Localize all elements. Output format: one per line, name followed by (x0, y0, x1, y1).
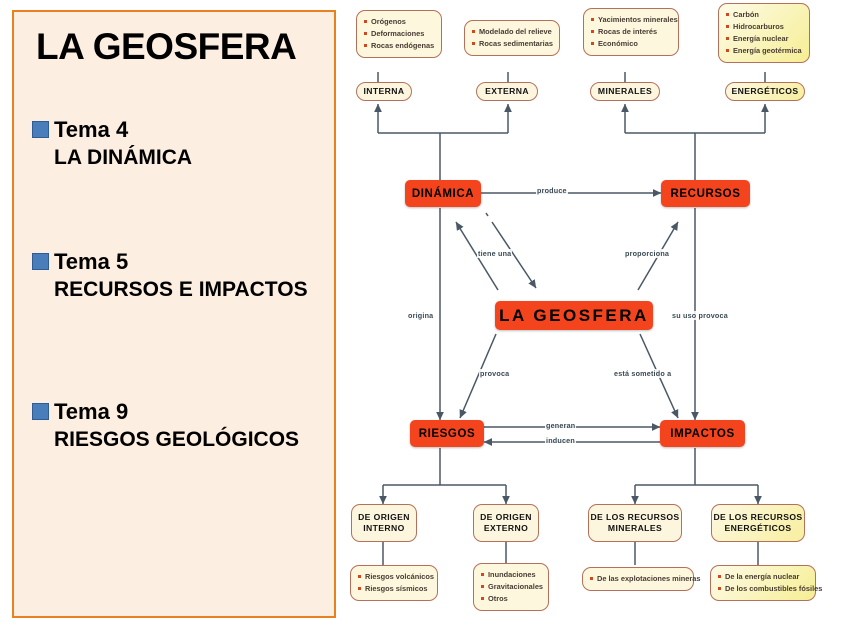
list-item: Rocas sedimentarias (471, 38, 552, 50)
detail-list: Orógenos Deformaciones Rocas endógenas (363, 16, 434, 52)
detail-list: De las explotaciones mineras (589, 573, 686, 585)
node-de-los-recursos-minerales[interactable]: DE LOS RECURSOS MINERALES (588, 504, 682, 542)
node-line-2: ENERGÉTICOS (725, 523, 792, 534)
list-item: Orógenos (363, 16, 434, 28)
detail-list: De la energía nuclear De los combustible… (717, 571, 808, 595)
node-line-1: DE LOS RECURSOS (713, 512, 802, 523)
topic-heading: Tema 9 (32, 400, 299, 423)
edge-label-generan: generan (545, 421, 576, 430)
node-la-geosfera[interactable]: LA GEOSFERA (495, 301, 653, 330)
topics-panel: LA GEOSFERA Tema 4 LA DINÁMICA Tema 5 RE… (12, 10, 336, 618)
detail-list: Riesgos volcánicos Riesgos sísmicos (357, 571, 430, 595)
node-line-2: EXTERNO (484, 523, 528, 534)
detail-list: Modelado del relieve Rocas sedimentarias (471, 26, 552, 50)
edge-label-origina: origina (407, 311, 434, 320)
topic-label: Tema 9 (54, 400, 128, 423)
edge-label-proporciona: proporciona (624, 249, 670, 258)
node-line-1: DE LOS RECURSOS (590, 512, 679, 523)
list-item: Energía nuclear (725, 33, 802, 45)
list-item: Gravitacionales (480, 581, 541, 593)
list-item: De la energía nuclear (717, 571, 808, 583)
edge-label-esta-sometido-a: está sometido a (613, 369, 672, 378)
detail-box-interna: Orógenos Deformaciones Rocas endógenas (356, 10, 442, 58)
list-item: Rocas de interés (590, 26, 671, 38)
node-de-origen-interno[interactable]: DE ORIGEN INTERNO (351, 504, 417, 542)
topic-label: Tema 5 (54, 250, 128, 273)
topic-item-tema-9[interactable]: Tema 9 RIESGOS GEOLÓGICOS (32, 400, 299, 451)
node-externa[interactable]: EXTERNA (476, 82, 538, 101)
list-item: Otros (480, 593, 541, 605)
list-item: Deformaciones (363, 28, 434, 40)
detail-list: Yacimientos minerales Rocas de interés E… (590, 14, 671, 50)
list-item: Riesgos sísmicos (357, 583, 430, 595)
list-item: Carbón (725, 9, 802, 21)
list-item: Riesgos volcánicos (357, 571, 430, 583)
node-impactos[interactable]: IMPACTOS (660, 420, 745, 447)
node-line-2: MINERALES (608, 523, 662, 534)
detail-box-recursos-minerales: De las explotaciones mineras (582, 567, 694, 591)
node-line-2: INTERNO (363, 523, 404, 534)
edge-label-inducen: inducen (545, 436, 576, 445)
node-recursos[interactable]: RECURSOS (661, 180, 750, 207)
topic-subtitle: LA DINÁMICA (54, 147, 192, 169)
edge-label-produce: produce (536, 186, 568, 195)
node-energeticos[interactable]: ENERGÉTICOS (725, 82, 805, 101)
list-item: Inundaciones (480, 569, 541, 581)
topic-subtitle: RECURSOS E IMPACTOS (54, 279, 308, 301)
list-item: Energía geotérmica (725, 45, 802, 57)
detail-box-minerales: Yacimientos minerales Rocas de interés E… (583, 8, 679, 56)
concept-map: Orógenos Deformaciones Rocas endógenas M… (348, 0, 848, 636)
node-interna[interactable]: INTERNA (356, 82, 412, 101)
node-line-1: DE ORIGEN (358, 512, 410, 523)
square-bullet-icon (32, 253, 49, 270)
node-de-origen-externo[interactable]: DE ORIGEN EXTERNO (473, 504, 539, 542)
detail-box-recursos-energeticos: De la energía nuclear De los combustible… (710, 565, 816, 601)
detail-box-externa: Modelado del relieve Rocas sedimentarias (464, 20, 560, 56)
edge-label-su-uso-provoca: su uso provoca (671, 311, 729, 320)
topic-item-tema-4[interactable]: Tema 4 LA DINÁMICA (32, 118, 192, 169)
topic-label: Tema 4 (54, 118, 128, 141)
topic-subtitle: RIESGOS GEOLÓGICOS (54, 429, 299, 451)
node-de-los-recursos-energeticos[interactable]: DE LOS RECURSOS ENERGÉTICOS (711, 504, 805, 542)
detail-list: Inundaciones Gravitacionales Otros (480, 569, 541, 605)
topic-item-tema-5[interactable]: Tema 5 RECURSOS E IMPACTOS (32, 250, 308, 301)
square-bullet-icon (32, 403, 49, 420)
list-item: De las explotaciones mineras (589, 573, 686, 585)
node-minerales[interactable]: MINERALES (590, 82, 660, 101)
square-bullet-icon (32, 121, 49, 138)
edge-label-provoca: provoca (479, 369, 510, 378)
edge-label-tiene-una: tiene una (477, 249, 512, 258)
topic-heading: Tema 5 (32, 250, 308, 273)
detail-box-origen-interno: Riesgos volcánicos Riesgos sísmicos (350, 565, 438, 601)
list-item: Hidrocarburos (725, 21, 802, 33)
list-item: Económico (590, 38, 671, 50)
node-dinamica[interactable]: DINÁMICA (405, 180, 481, 207)
topic-heading: Tema 4 (32, 118, 192, 141)
list-item: Rocas endógenas (363, 40, 434, 52)
page-title: LA GEOSFERA (36, 26, 296, 68)
list-item: Yacimientos minerales (590, 14, 671, 26)
detail-box-energeticos: Carbón Hidrocarburos Energía nuclear Ene… (718, 3, 810, 63)
node-riesgos[interactable]: RIESGOS (410, 420, 484, 447)
list-item: De los combustibles fósiles (717, 583, 808, 595)
detail-list: Carbón Hidrocarburos Energía nuclear Ene… (725, 9, 802, 57)
list-item: Modelado del relieve (471, 26, 552, 38)
node-line-1: DE ORIGEN (480, 512, 532, 523)
detail-box-origen-externo: Inundaciones Gravitacionales Otros (473, 563, 549, 611)
